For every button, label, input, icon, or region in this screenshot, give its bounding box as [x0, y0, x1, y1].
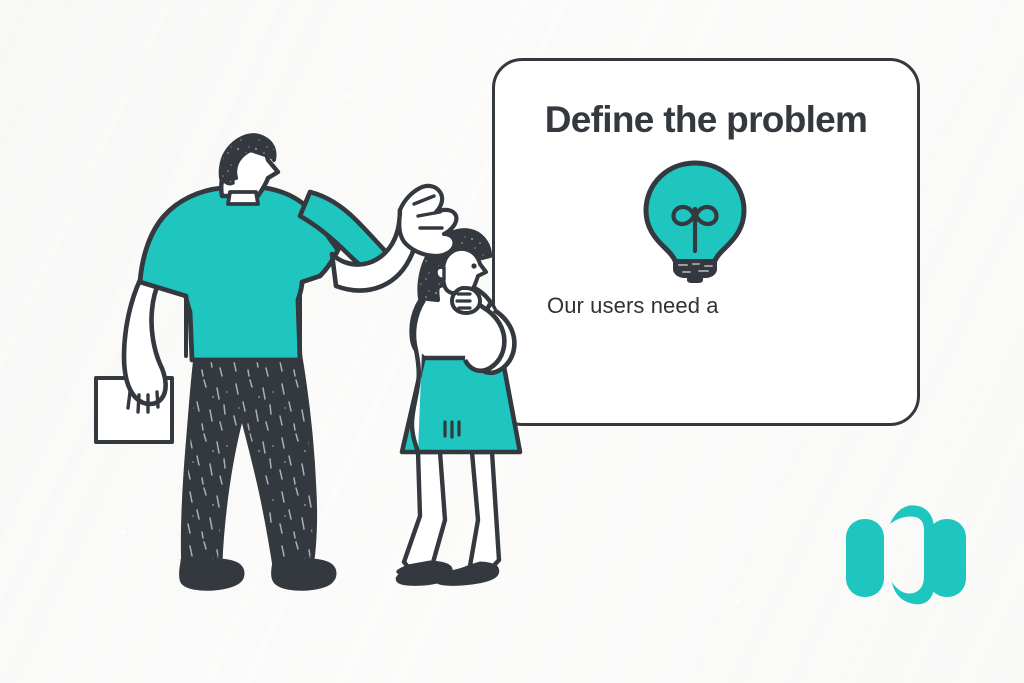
man-left-arm	[124, 280, 166, 404]
figure-woman	[397, 230, 520, 584]
shoe-left-man	[181, 560, 244, 589]
brand-logo	[842, 500, 970, 610]
woman-eye	[471, 263, 476, 268]
illustration-canvas: Define the problem	[0, 0, 1024, 683]
man-trousers	[183, 356, 315, 574]
shoe-right-man	[273, 560, 335, 589]
figure-man	[96, 135, 456, 589]
man-right-hand	[399, 186, 456, 256]
